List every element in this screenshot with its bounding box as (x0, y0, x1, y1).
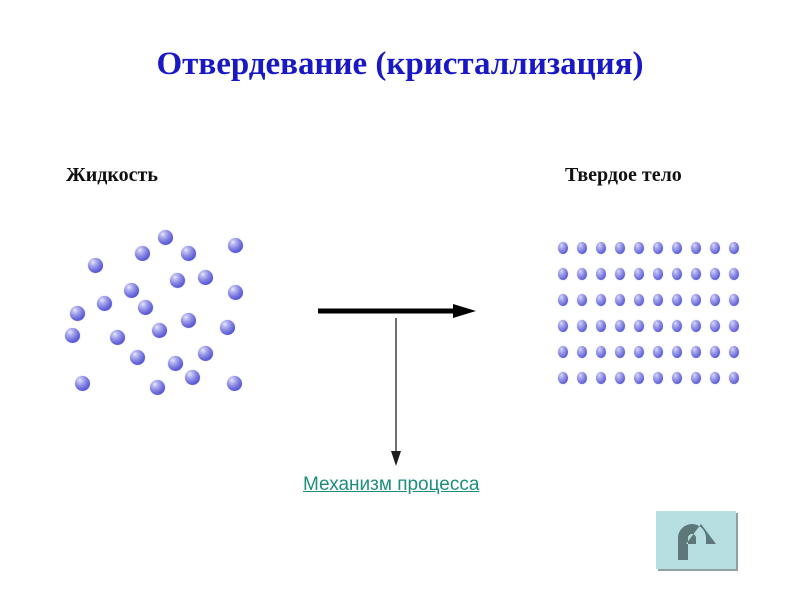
lattice-node (596, 268, 606, 280)
liquid-particle-group (60, 228, 270, 403)
lattice-node (615, 346, 625, 358)
liquid-particle (198, 270, 213, 285)
lattice-node (615, 372, 625, 384)
lattice-node (596, 372, 606, 384)
lattice-node (634, 372, 644, 384)
lattice-node (710, 268, 720, 280)
liquid-particle (110, 330, 125, 345)
lattice-node (615, 268, 625, 280)
lattice-node (634, 242, 644, 254)
lattice-node (691, 320, 701, 332)
lattice-node (729, 294, 739, 306)
liquid-particle (228, 285, 243, 300)
lattice-node (710, 372, 720, 384)
lattice-node (596, 346, 606, 358)
lattice-node (634, 320, 644, 332)
lattice-node (577, 268, 587, 280)
lattice-node (615, 320, 625, 332)
lattice-node (634, 346, 644, 358)
lattice-node (691, 346, 701, 358)
lattice-node (691, 372, 701, 384)
liquid-particle (150, 380, 165, 395)
liquid-particle (220, 320, 235, 335)
lattice-node (634, 294, 644, 306)
lattice-node (577, 294, 587, 306)
lattice-node (615, 242, 625, 254)
lattice-node (672, 242, 682, 254)
lattice-node (710, 294, 720, 306)
liquid-particle (168, 356, 183, 371)
liquid-particle (185, 370, 200, 385)
liquid-particle (138, 300, 153, 315)
liquid-particle (124, 283, 139, 298)
lattice-node (672, 372, 682, 384)
liquid-particle (88, 258, 103, 273)
liquid-particle (65, 328, 80, 343)
process-arrow-right (318, 303, 476, 319)
lattice-node (691, 268, 701, 280)
lattice-node (729, 346, 739, 358)
return-button[interactable] (656, 511, 736, 569)
lattice-node (634, 268, 644, 280)
lattice-node (729, 268, 739, 280)
lattice-node (653, 294, 663, 306)
solid-phase-label: Твердое тело (565, 164, 682, 187)
liquid-particle (130, 350, 145, 365)
liquid-particle (198, 346, 213, 361)
lattice-node (691, 294, 701, 306)
liquid-particle (181, 246, 196, 261)
lattice-node (615, 294, 625, 306)
lattice-node (710, 242, 720, 254)
lattice-node (729, 320, 739, 332)
lattice-node (653, 372, 663, 384)
liquid-particle (135, 246, 150, 261)
solid-lattice-group (558, 242, 743, 394)
mechanism-arrow-down (388, 318, 404, 466)
page-title: Отвердевание (кристаллизация) (0, 46, 800, 83)
lattice-node (672, 320, 682, 332)
lattice-node (577, 320, 587, 332)
lattice-node (691, 242, 701, 254)
liquid-particle (158, 230, 173, 245)
lattice-node (653, 242, 663, 254)
lattice-node (558, 268, 568, 280)
lattice-node (558, 320, 568, 332)
lattice-node (596, 320, 606, 332)
liquid-particle (152, 323, 167, 338)
liquid-particle (75, 376, 90, 391)
lattice-node (672, 294, 682, 306)
mechanism-process-link[interactable]: Механизм процесса (303, 474, 479, 496)
lattice-node (729, 242, 739, 254)
liquid-particle (70, 306, 85, 321)
liquid-particle (181, 313, 196, 328)
lattice-node (558, 346, 568, 358)
liquid-particle (170, 273, 185, 288)
lattice-node (596, 242, 606, 254)
lattice-node (596, 294, 606, 306)
lattice-node (558, 372, 568, 384)
liquid-particle (228, 238, 243, 253)
lattice-node (558, 242, 568, 254)
lattice-node (577, 346, 587, 358)
liquid-particle (227, 376, 242, 391)
lattice-node (672, 346, 682, 358)
lattice-node (653, 346, 663, 358)
lattice-node (710, 346, 720, 358)
liquid-particle (97, 296, 112, 311)
lattice-node (577, 372, 587, 384)
lattice-node (577, 242, 587, 254)
lattice-node (672, 268, 682, 280)
lattice-node (558, 294, 568, 306)
liquid-phase-label: Жидкость (66, 164, 158, 187)
lattice-node (653, 320, 663, 332)
lattice-node (653, 268, 663, 280)
lattice-node (729, 372, 739, 384)
lattice-node (710, 320, 720, 332)
